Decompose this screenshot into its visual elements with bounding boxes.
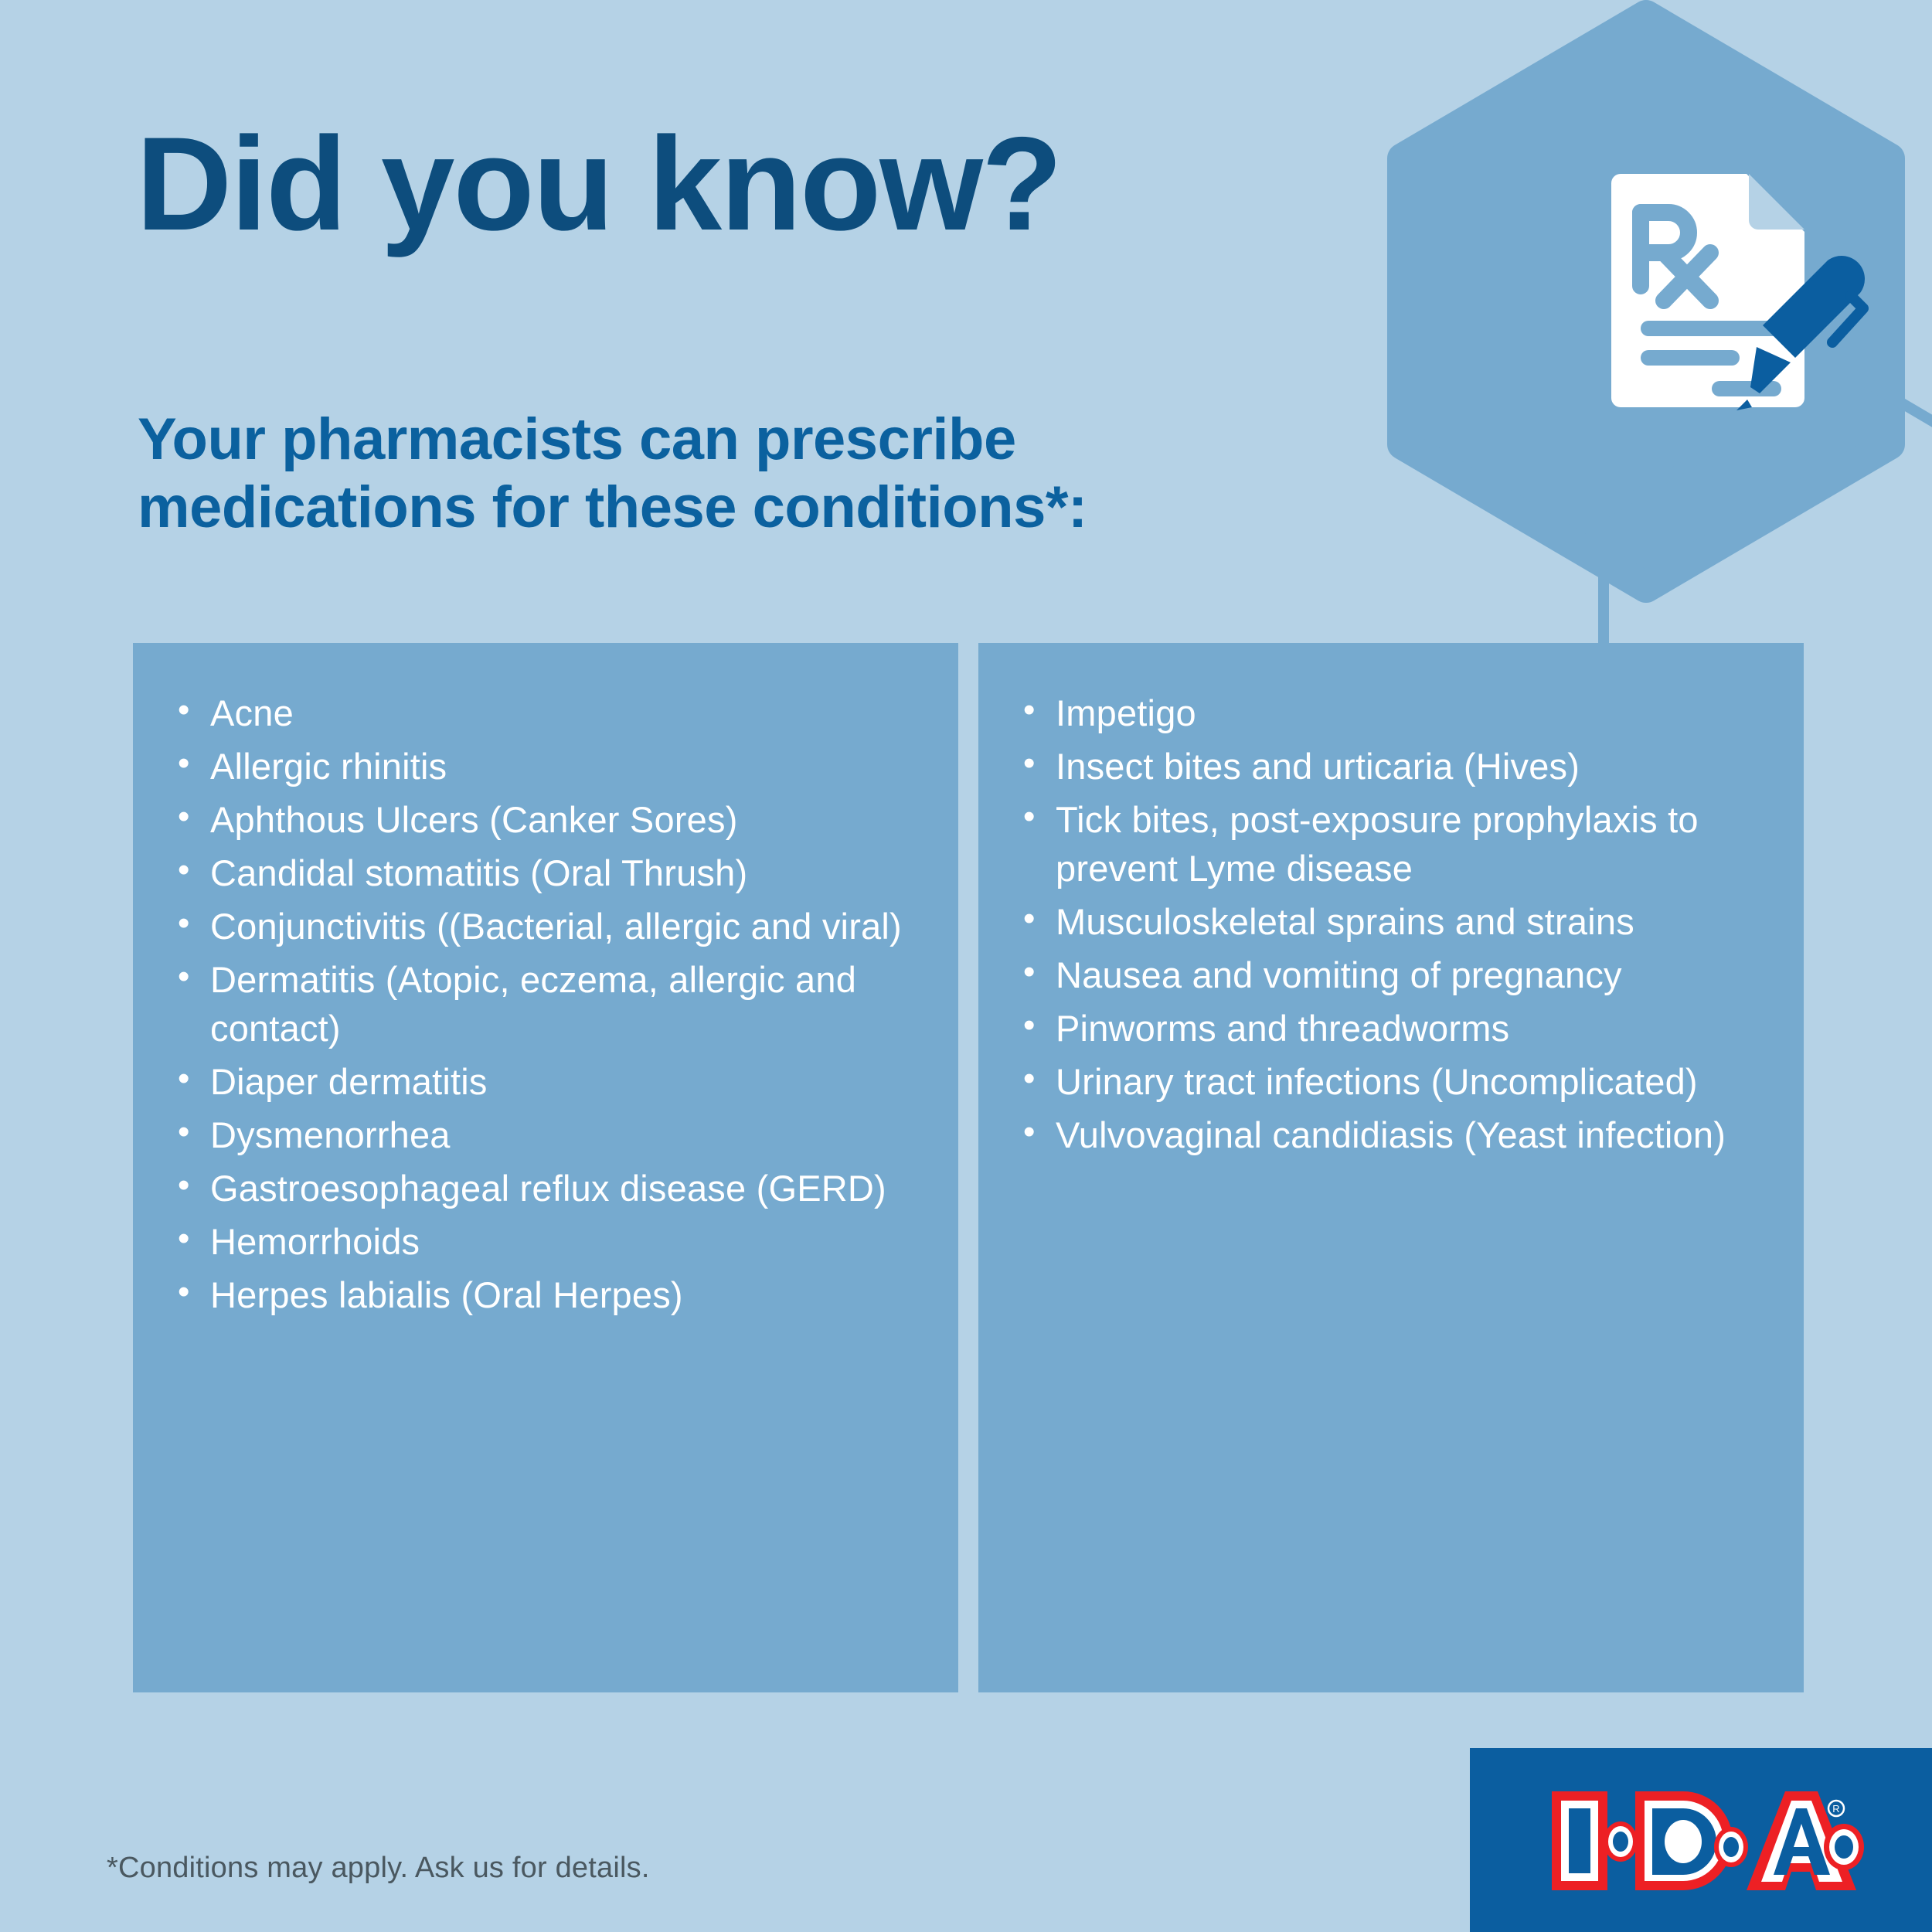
list-item: Insect bites and urticaria (Hives) <box>1023 743 1773 791</box>
ida-logo: R <box>1549 1784 1867 1900</box>
conditions-list-right: Impetigo Insect bites and urticaria (Hiv… <box>1023 689 1773 1160</box>
page-subtitle-line-2: medications for these conditions*: <box>138 474 1087 542</box>
list-item: Tick bites, post-exposure prophylaxis to… <box>1023 796 1773 893</box>
list-item: Acne <box>178 689 927 738</box>
conditions-panels: Acne Allergic rhinitis Aphthous Ulcers (… <box>133 643 1804 1692</box>
footnote-disclaimer: *Conditions may apply. Ask us for detail… <box>107 1852 650 1885</box>
prescription-document-with-pen-icon <box>1596 166 1874 413</box>
list-item: Impetigo <box>1023 689 1773 738</box>
page-subtitle: Your pharmacists can prescribe medicatio… <box>138 406 1087 542</box>
list-item: Diaper dermatitis <box>178 1058 927 1107</box>
svg-text:R: R <box>1832 1803 1839 1815</box>
list-item: Dermatitis (Atopic, eczema, allergic and… <box>178 956 927 1053</box>
registered-trademark-icon: R <box>1828 1801 1844 1816</box>
list-item: Hemorrhoids <box>178 1218 927 1267</box>
page-subtitle-line-1: Your pharmacists can prescribe <box>138 406 1016 472</box>
list-item: Musculoskeletal sprains and strains <box>1023 898 1773 947</box>
logo-letter-i <box>1552 1791 1607 1890</box>
list-item: Gastroesophageal reflux disease (GERD) <box>178 1165 927 1213</box>
logo-band: R <box>1470 1748 1932 1932</box>
list-item: Aphthous Ulcers (Canker Sores) <box>178 796 927 845</box>
list-item: Pinworms and threadworms <box>1023 1005 1773 1053</box>
list-item: Conjunctivitis ((Bacterial, allergic and… <box>178 903 927 951</box>
list-item: Allergic rhinitis <box>178 743 927 791</box>
list-item: Dysmenorrhea <box>178 1111 927 1160</box>
list-item: Vulvovaginal candidiasis (Yeast infectio… <box>1023 1111 1773 1160</box>
conditions-panel-right: Impetigo Insect bites and urticaria (Hiv… <box>978 643 1804 1692</box>
logo-dot-2 <box>1714 1827 1748 1867</box>
conditions-list-left: Acne Allergic rhinitis Aphthous Ulcers (… <box>178 689 927 1320</box>
logo-dot-1 <box>1604 1821 1638 1862</box>
page-title: Did you know? <box>136 117 1061 250</box>
list-item: Candidal stomatitis (Oral Thrush) <box>178 849 927 898</box>
logo-dot-3 <box>1824 1824 1864 1870</box>
list-item: Herpes labialis (Oral Herpes) <box>178 1271 927 1320</box>
list-item: Urinary tract infections (Uncomplicated) <box>1023 1058 1773 1107</box>
conditions-panel-left: Acne Allergic rhinitis Aphthous Ulcers (… <box>133 643 958 1692</box>
list-item: Nausea and vomiting of pregnancy <box>1023 951 1773 1000</box>
infographic-canvas: Did you know? Your pharmacists can presc… <box>0 0 1932 1932</box>
